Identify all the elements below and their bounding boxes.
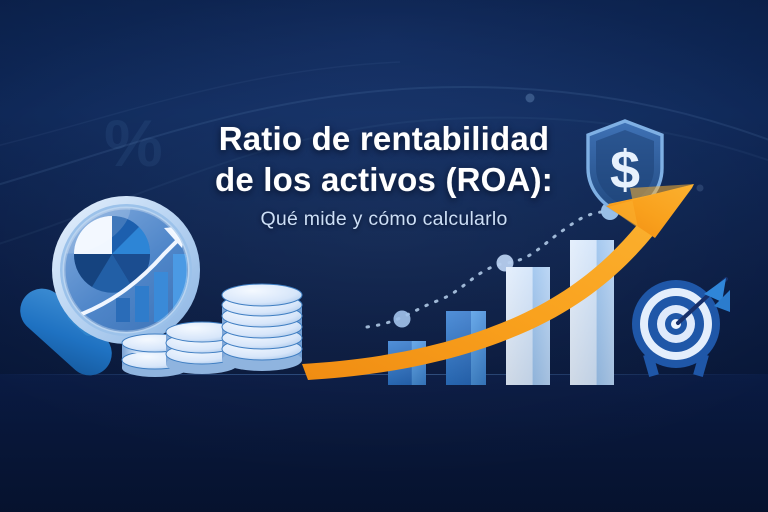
title-line-1: Ratio de rentabilidad	[0, 118, 768, 159]
title-line-2: de los activos (ROA):	[0, 159, 768, 200]
floor-plane	[0, 374, 768, 512]
hero-banner: %	[0, 0, 768, 512]
coin-stacks-icon	[118, 290, 308, 386]
title-block: Ratio de rentabilidad de los activos (RO…	[0, 118, 768, 232]
coin-stack-large	[222, 284, 302, 371]
subtitle: Qué mide y cómo calcularlo	[0, 207, 768, 232]
